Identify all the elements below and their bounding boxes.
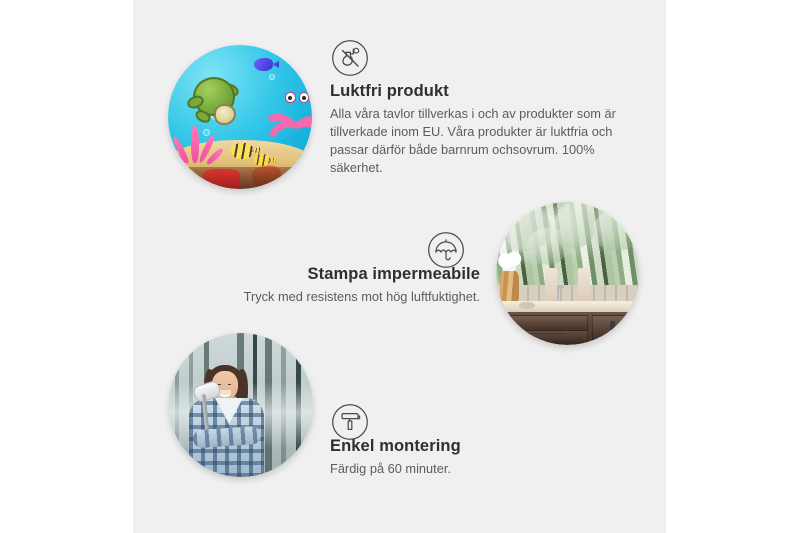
no-perfume-spray-icon bbox=[331, 39, 369, 77]
soap-dish-shape bbox=[519, 302, 535, 309]
feature-title: Enkel montering bbox=[330, 437, 630, 457]
cabinet-handle bbox=[610, 321, 615, 336]
sea-background bbox=[168, 45, 312, 189]
feature-title: Luktfri produkt bbox=[330, 82, 630, 102]
smile-shape bbox=[219, 390, 230, 397]
octopus-eye bbox=[285, 92, 295, 102]
towel-shape bbox=[578, 268, 591, 305]
feature-text-easy-mounting: Enkel montering Färdig på 60 minuter. bbox=[330, 437, 630, 478]
turtle-illustration bbox=[188, 77, 243, 125]
blue-fish-icon bbox=[254, 58, 273, 71]
feature-image-waterproof-print[interactable] bbox=[496, 202, 639, 345]
bathroom-scene-image bbox=[496, 202, 639, 345]
cabinet-door bbox=[592, 315, 639, 345]
feature-description: Tryck med resistens mot hög luftfuktighe… bbox=[155, 288, 480, 306]
towel-shape bbox=[545, 268, 558, 305]
coral-illustration bbox=[174, 126, 220, 169]
coral-branch bbox=[191, 126, 198, 163]
woman-painter-image bbox=[169, 333, 313, 477]
screenshot-stage: Luktfri produkt Alla våra tavlor tillver… bbox=[0, 0, 800, 533]
sea-bottom-strip bbox=[168, 167, 312, 189]
feature-description: Färdig på 60 minuter. bbox=[330, 460, 630, 478]
bathroom-background bbox=[496, 202, 639, 345]
woman-illustration bbox=[186, 365, 267, 477]
feature-description: Alla våra tavlor tillverkas i och av pro… bbox=[330, 105, 630, 178]
feature-title: Stampa impermeabile bbox=[155, 265, 480, 285]
feature-image-easy-mounting[interactable] bbox=[169, 333, 313, 477]
drawer bbox=[510, 315, 588, 330]
vanity-cabinet bbox=[502, 312, 639, 345]
octopus-eye bbox=[299, 92, 309, 102]
feature-text-odour-free: Luktfri produkt Alla våra tavlor tillver… bbox=[330, 82, 630, 177]
shirt-collar bbox=[215, 398, 243, 424]
feature-text-waterproof-print: Stampa impermeabile Tryck med resistens … bbox=[155, 265, 480, 306]
leaf-shape bbox=[588, 202, 639, 257]
content-panel: Luktfri produkt Alla våra tavlor tillver… bbox=[133, 0, 666, 533]
feature-image-odour-free[interactable] bbox=[168, 45, 312, 189]
octopus-head bbox=[268, 82, 312, 120]
forest-background bbox=[169, 333, 313, 477]
octopus-illustration bbox=[254, 82, 312, 148]
red-object-shape bbox=[203, 169, 240, 189]
underwater-scene-image bbox=[168, 45, 312, 189]
yellow-fish-icon bbox=[254, 154, 270, 166]
yellow-fish-icon bbox=[231, 143, 253, 159]
eye-shape bbox=[228, 384, 231, 386]
umbrella-icon bbox=[427, 231, 465, 269]
paint-roller-icon bbox=[331, 403, 369, 441]
bubble-icon bbox=[269, 74, 275, 80]
drawer-handle bbox=[528, 333, 566, 334]
turtle-head bbox=[214, 104, 237, 125]
